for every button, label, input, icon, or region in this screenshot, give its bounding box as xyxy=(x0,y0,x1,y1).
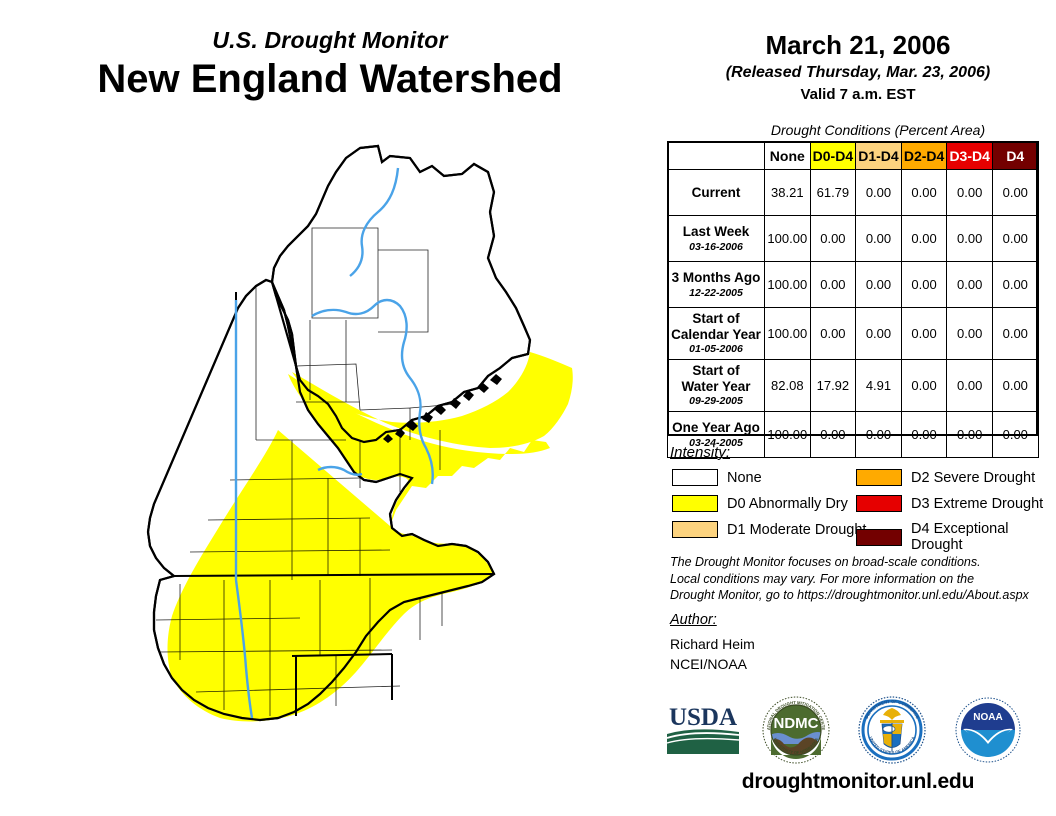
table-cell: 0.00 xyxy=(856,412,902,458)
table-cell: 0.00 xyxy=(901,216,947,262)
legend-swatch xyxy=(672,521,718,538)
legend-item: D1 Moderate Drought xyxy=(672,521,866,538)
legend-item: None xyxy=(672,469,762,486)
ndmc-logo-icon: NDMC NATIONAL DROUGHT MITIGATION CENTER … xyxy=(760,694,832,766)
table-cell: 100.00 xyxy=(765,308,811,360)
legend-label: D3 Extreme Drought xyxy=(911,496,1043,512)
table-cell: 100.00 xyxy=(765,262,811,308)
table-header-row: NoneD0-D4D1-D4D2-D4D3-D4D4 xyxy=(668,142,1039,170)
disclaimer-line-1: The Drought Monitor focuses on broad-sca… xyxy=(670,554,1050,571)
page-title: New England Watershed xyxy=(0,57,660,102)
drought-conditions-table: NoneD0-D4D1-D4D2-D4D3-D4D4 Current38.216… xyxy=(667,141,1039,458)
author-heading: Author: xyxy=(670,612,717,628)
table-cell: 0.00 xyxy=(947,262,993,308)
legend-label: D4 Exceptional Drought xyxy=(911,521,1056,553)
table-row: Last Week03-16-2006100.000.000.000.000.0… xyxy=(668,216,1039,262)
legend-item: D2 Severe Drought xyxy=(856,469,1035,486)
table-cell: 0.00 xyxy=(810,412,856,458)
legend-swatch xyxy=(672,495,718,512)
table-cell: 0.00 xyxy=(856,262,902,308)
table-cell: 0.00 xyxy=(992,216,1038,262)
table-cell: 0.00 xyxy=(947,360,993,412)
legend-swatch xyxy=(856,529,902,546)
table-cell: 0.00 xyxy=(992,360,1038,412)
table-cell: 0.00 xyxy=(901,412,947,458)
map-svg xyxy=(60,140,660,800)
table-row-date: 09-29-2005 xyxy=(670,395,762,407)
table-cell: 0.00 xyxy=(947,412,993,458)
usda-logo: USDA xyxy=(665,702,741,763)
table-caption: Drought Conditions (Percent Area) xyxy=(700,122,1056,138)
usdc-seal-logo-icon: DEPARTMENT OF COMMERCE UNITED STATES OF … xyxy=(856,694,928,766)
svg-text:USDA: USDA xyxy=(669,704,737,731)
table-cell: 0.00 xyxy=(992,170,1038,216)
table-cell: 4.91 xyxy=(856,360,902,412)
table-cell: 100.00 xyxy=(765,412,811,458)
table-row-label: Current xyxy=(668,170,765,216)
table-cell: 0.00 xyxy=(901,262,947,308)
drought-map xyxy=(60,140,660,800)
table-cell: 82.08 xyxy=(765,360,811,412)
legend-swatch xyxy=(856,495,902,512)
legend-item: D4 Exceptional Drought xyxy=(856,521,1056,553)
table-cell: 0.00 xyxy=(947,170,993,216)
table-column-header-d1-d4: D1-D4 xyxy=(856,142,902,170)
table-row: Start ofWater Year09-29-200582.0817.924.… xyxy=(668,360,1039,412)
table-cell: 0.00 xyxy=(901,170,947,216)
table-column-header-d4: D4 xyxy=(992,142,1038,170)
table-cell: 0.00 xyxy=(992,262,1038,308)
legend-item: D0 Abnormally Dry xyxy=(672,495,848,512)
table-cell: 38.21 xyxy=(765,170,811,216)
author-organization: NCEI/NOAA xyxy=(670,656,747,672)
table-column-header-d0-d4: D0-D4 xyxy=(810,142,856,170)
usda-logo-icon: USDA xyxy=(665,702,741,758)
table-row-label: Start ofCalendar Year01-05-2006 xyxy=(668,308,765,360)
table-cell: 0.00 xyxy=(856,308,902,360)
disclaimer-text: The Drought Monitor focuses on broad-sca… xyxy=(670,554,1050,604)
logo-row: USDA NDMC NATIONAL DROUGHT MITIGATION C xyxy=(660,694,1056,766)
usdc-seal-logo: DEPARTMENT OF COMMERCE UNITED STATES OF … xyxy=(856,694,928,771)
disclaimer-line-3: Drought Monitor, go to https://droughtmo… xyxy=(670,587,1050,604)
table-cell: 0.00 xyxy=(992,412,1038,458)
table-cell: 0.00 xyxy=(856,170,902,216)
table-row-label: Start ofWater Year09-29-2005 xyxy=(668,360,765,412)
table-row: Current38.2161.790.000.000.000.00 xyxy=(668,170,1039,216)
release-date: (Released Thursday, Mar. 23, 2006) xyxy=(660,64,1056,82)
author-name: Richard Heim xyxy=(670,636,755,652)
legend-label: D0 Abnormally Dry xyxy=(727,496,848,512)
valid-time: Valid 7 a.m. EST xyxy=(660,86,1056,103)
table-row-label: Last Week03-16-2006 xyxy=(668,216,765,262)
title-block: U.S. Drought Monitor New England Watersh… xyxy=(0,28,660,102)
legend-label: D2 Severe Drought xyxy=(911,470,1035,486)
table-cell: 61.79 xyxy=(810,170,856,216)
noaa-logo-text: NOAA xyxy=(973,712,1002,723)
table-cell: 0.00 xyxy=(947,308,993,360)
table-column-header-d3-d4: D3-D4 xyxy=(947,142,993,170)
table-cell: 0.00 xyxy=(947,216,993,262)
table-cell: 0.00 xyxy=(810,262,856,308)
legend-swatch xyxy=(856,469,902,486)
legend-swatch xyxy=(672,469,718,486)
table-cell: 0.00 xyxy=(901,360,947,412)
table-corner-cell xyxy=(668,142,765,170)
table-cell: 100.00 xyxy=(765,216,811,262)
site-url: droughtmonitor.unl.edu xyxy=(660,770,1056,794)
legend-item: D3 Extreme Drought xyxy=(856,495,1043,512)
table-column-header-d2-d4: D2-D4 xyxy=(901,142,947,170)
ndmc-logo: NDMC NATIONAL DROUGHT MITIGATION CENTER … xyxy=(760,694,832,771)
table-cell: 0.00 xyxy=(856,216,902,262)
table-row-label: 3 Months Ago12-22-2005 xyxy=(668,262,765,308)
table-cell: 0.00 xyxy=(810,308,856,360)
noaa-logo-icon: NOAA xyxy=(952,694,1024,766)
table-cell: 0.00 xyxy=(901,308,947,360)
table-row: 3 Months Ago12-22-2005100.000.000.000.00… xyxy=(668,262,1039,308)
table-cell: 0.00 xyxy=(810,216,856,262)
table-cell: 17.92 xyxy=(810,360,856,412)
intensity-heading: Intensity: xyxy=(670,444,730,461)
table-row-date: 12-22-2005 xyxy=(670,287,762,299)
page-subtitle: U.S. Drought Monitor xyxy=(0,28,660,53)
table-row: Start ofCalendar Year01-05-2006100.000.0… xyxy=(668,308,1039,360)
date-block: March 21, 2006 (Released Thursday, Mar. … xyxy=(660,30,1056,103)
table-cell: 0.00 xyxy=(992,308,1038,360)
legend-label: D1 Moderate Drought xyxy=(727,522,866,538)
table-row-date: 03-16-2006 xyxy=(670,241,762,253)
ndmc-logo-text: NDMC xyxy=(774,715,819,732)
disclaimer-line-2: Local conditions may vary. For more info… xyxy=(670,571,1050,588)
table-row-date: 01-05-2006 xyxy=(670,343,762,355)
legend-label: None xyxy=(727,470,762,486)
table-column-header-none: None xyxy=(765,142,811,170)
map-date: March 21, 2006 xyxy=(660,30,1056,61)
noaa-logo: NOAA xyxy=(952,694,1024,771)
